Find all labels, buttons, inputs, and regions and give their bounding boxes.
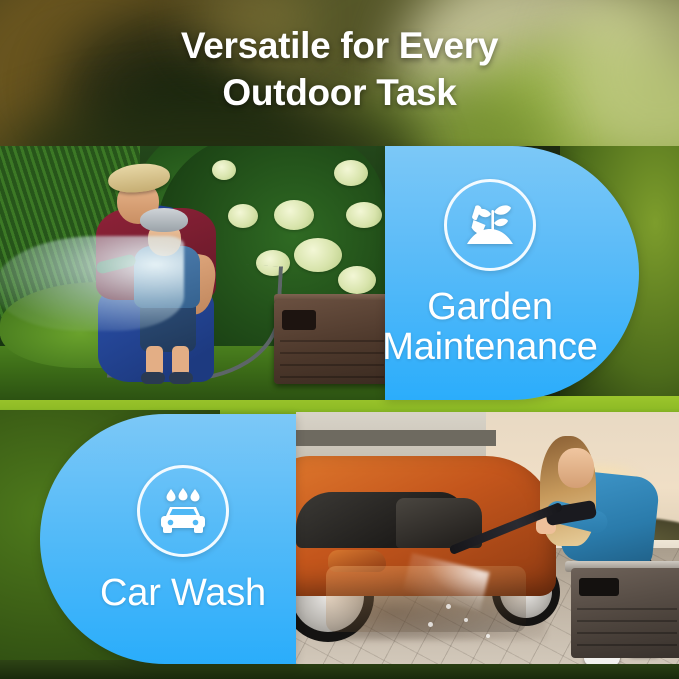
car-label-line-1: Car Wash: [100, 573, 266, 613]
car-wash-photo: [296, 412, 679, 664]
child-sandal: [141, 372, 165, 384]
page-title-line-2: Outdoor Task: [0, 69, 679, 116]
child-cap: [140, 208, 188, 232]
feature-card-car-wash[interactable]: Car Wash: [40, 414, 296, 664]
garden-label-line-1: Garden: [382, 287, 597, 327]
garden-flower: [346, 202, 382, 228]
water-spray: [0, 236, 184, 331]
carport-roof-edge: [296, 430, 496, 446]
hose-reel-box-slat: [280, 352, 384, 354]
plant-trowel-icon: [444, 179, 536, 271]
garden-flower: [212, 160, 236, 180]
feature-card-garden-content: Garden Maintenance: [385, 146, 639, 400]
garden-flower: [338, 266, 376, 294]
hose-reel-box: [274, 300, 386, 384]
garden-flower: [294, 238, 342, 272]
hose-reel-box-slat: [280, 376, 384, 378]
feature-card-car-label: Car Wash: [100, 573, 266, 613]
page-title-line-1: Versatile for Every: [181, 25, 498, 66]
feature-card-garden-maintenance[interactable]: Garden Maintenance: [385, 146, 639, 400]
garden-label-line-2: Maintenance: [382, 327, 597, 367]
hose-reel-box-slat: [577, 608, 677, 610]
hose-reel-box-slat: [280, 364, 384, 366]
feature-card-garden-label: Garden Maintenance: [382, 287, 597, 367]
hose-reel-box-opening: [282, 310, 316, 330]
page-title: Versatile for Every Outdoor Task: [0, 22, 679, 116]
feature-card-car-content: Car Wash: [40, 414, 296, 664]
water-droplet: [486, 634, 490, 638]
hose-reel-box-slat: [280, 340, 384, 342]
hose-reel-box-slat: [577, 644, 677, 646]
hose-reel-box: [571, 568, 679, 658]
hose-reel-box-opening: [579, 578, 619, 596]
promo-infographic: Versatile for Every Outdoor Task: [0, 0, 679, 679]
garden-photo: [0, 146, 386, 400]
child-sandal: [169, 372, 193, 384]
garden-flower: [274, 200, 314, 230]
water-droplet: [428, 622, 433, 627]
hose-reel-box-slat: [577, 620, 677, 622]
garden-flower: [334, 160, 368, 186]
car-wash-icon: [137, 465, 229, 557]
water-droplet: [446, 604, 451, 609]
water-droplet: [464, 618, 468, 622]
garden-flower: [228, 204, 258, 228]
person-face: [558, 448, 594, 488]
hose-reel-box-slat: [577, 632, 677, 634]
